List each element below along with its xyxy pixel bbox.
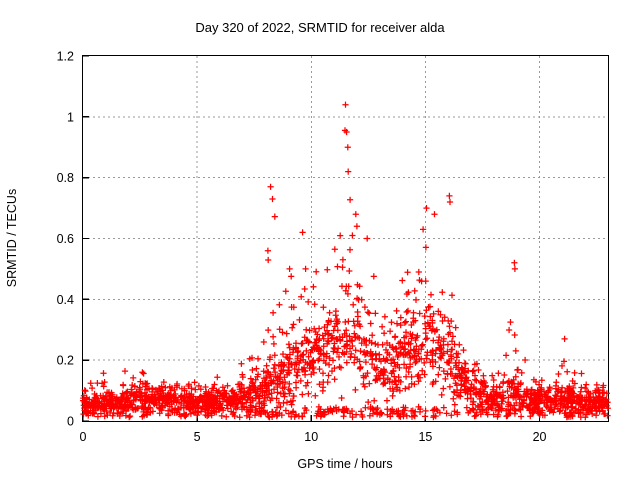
scatter-plot-svg: Day 320 of 2022, SRMTID for receiver ald… bbox=[0, 0, 640, 480]
y-tick-label: 0.2 bbox=[57, 354, 74, 368]
x-axis-label: GPS time / hours bbox=[297, 457, 392, 471]
x-tick-label: 0 bbox=[80, 430, 87, 444]
x-tick-label: 15 bbox=[418, 430, 432, 444]
plot-container: Day 320 of 2022, SRMTID for receiver ald… bbox=[0, 0, 640, 480]
x-tick-label: 20 bbox=[533, 430, 547, 444]
y-tick-label: 0 bbox=[67, 415, 74, 429]
y-tick-label: 1.2 bbox=[57, 50, 74, 64]
x-tick-label: 5 bbox=[194, 430, 201, 444]
y-axis-label: SRMTID / TECUs bbox=[5, 189, 19, 287]
y-tick-label: 0.8 bbox=[57, 171, 74, 185]
y-tick-label: 1 bbox=[67, 110, 74, 124]
x-tick-label: 10 bbox=[304, 430, 318, 444]
chart-title: Day 320 of 2022, SRMTID for receiver ald… bbox=[195, 20, 445, 35]
y-tick-label: 0.6 bbox=[57, 232, 74, 246]
y-tick-label: 0.4 bbox=[57, 293, 74, 307]
